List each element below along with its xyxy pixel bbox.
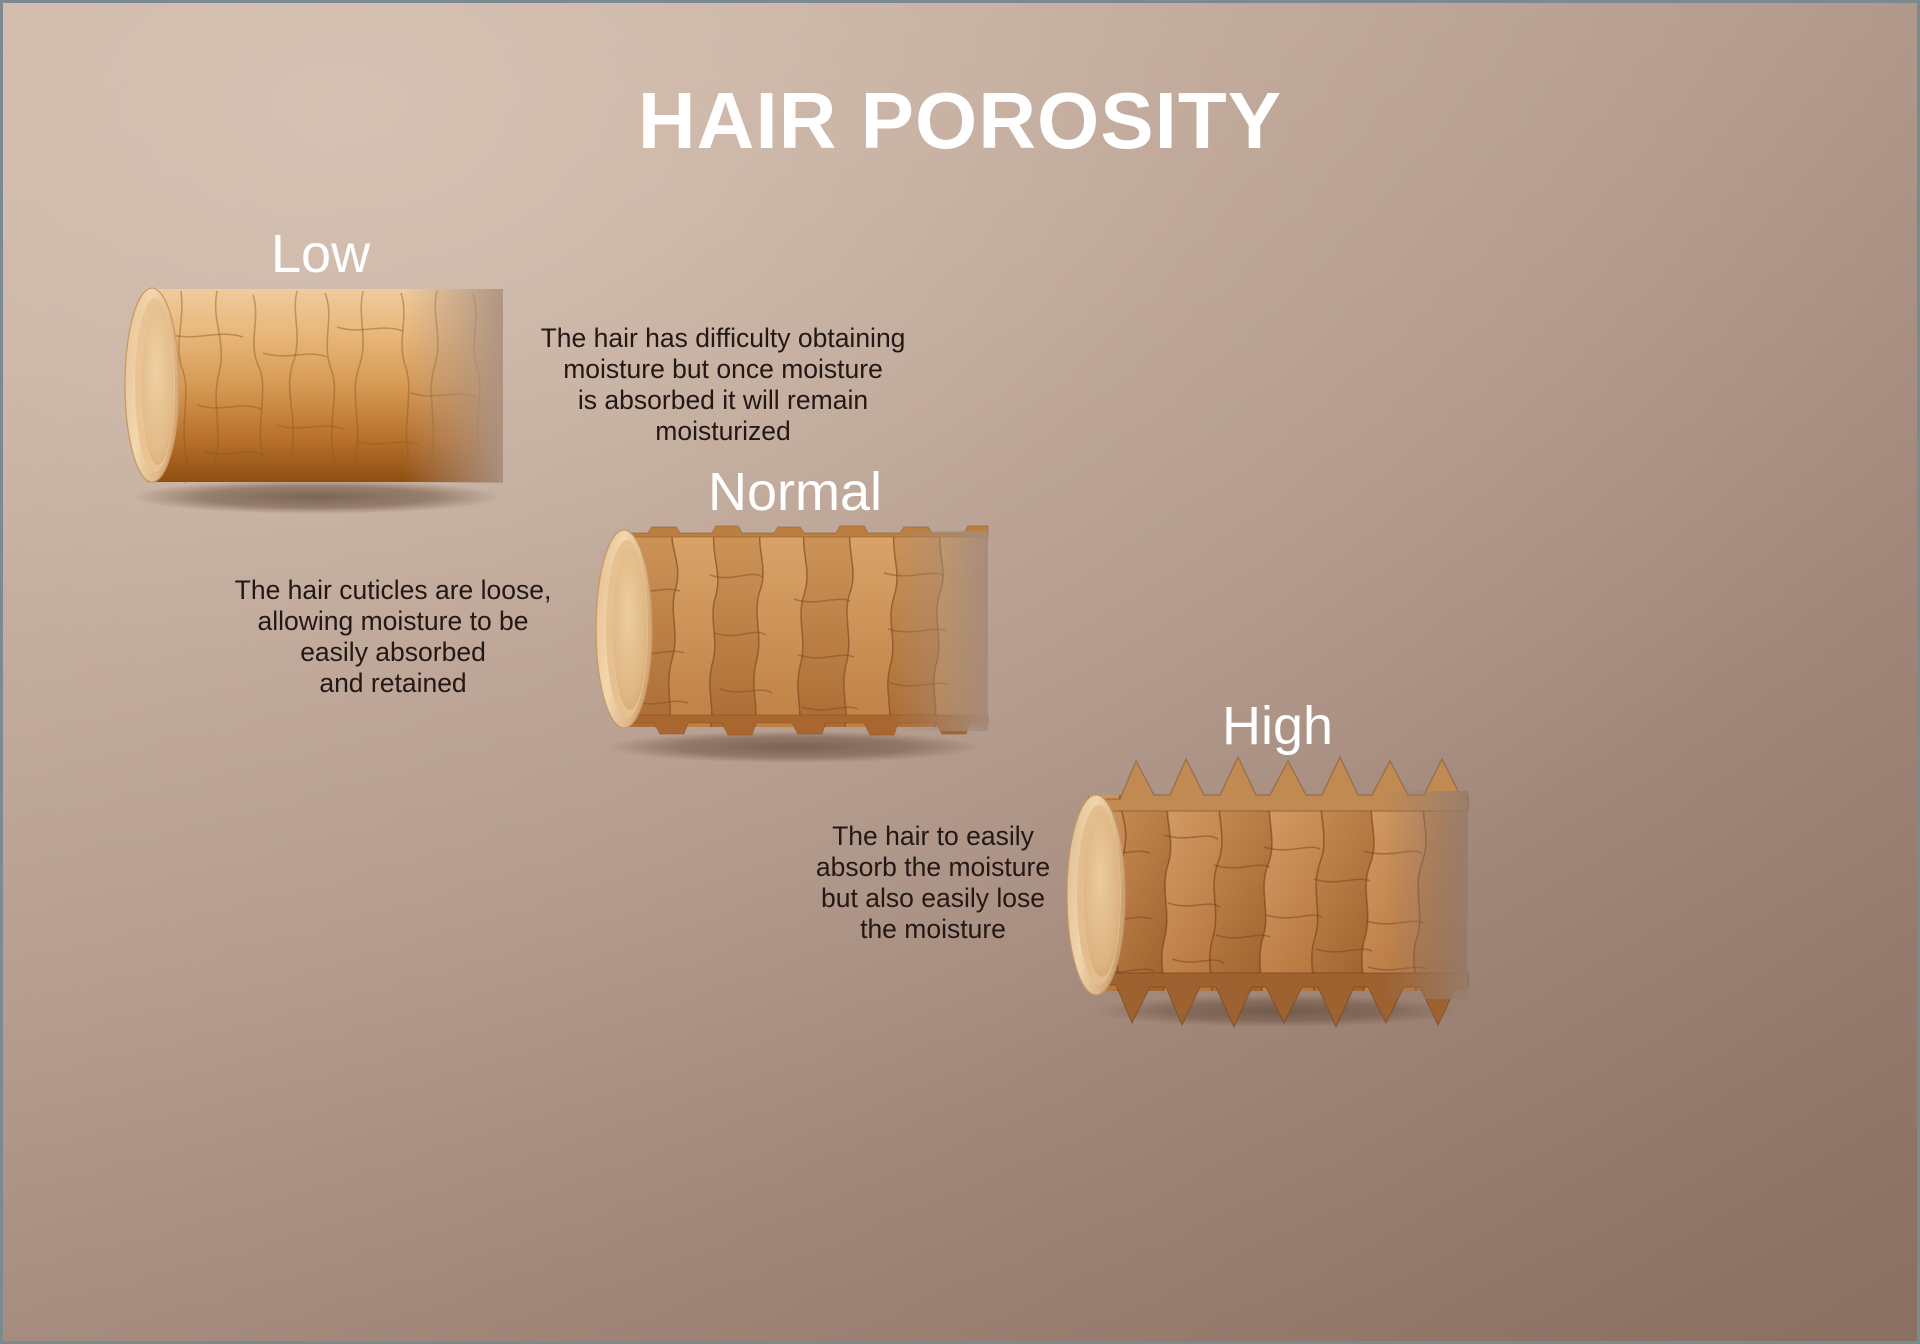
hair-strand-high-porosity xyxy=(1058,755,1488,1040)
level-label-normal: Normal xyxy=(708,465,882,519)
strand-shadow-low xyxy=(131,480,501,514)
level-description-high: The hair to easily absorb the moisture b… xyxy=(803,821,1063,945)
level-description-normal: The hair cuticles are loose, allowing mo… xyxy=(223,575,563,699)
infographic-canvas: HAIR POROSITY xyxy=(0,0,1920,1344)
strand-shadow-normal xyxy=(605,731,981,763)
level-description-low: The hair has difficulty obtaining moistu… xyxy=(533,323,913,447)
cortex-opening-low xyxy=(142,305,174,465)
cortex-opening-high xyxy=(1084,813,1120,977)
level-label-high: High xyxy=(1222,699,1333,753)
page-title: HAIR POROSITY xyxy=(3,81,1917,161)
hair-strand-normal-porosity xyxy=(588,515,1008,780)
cortex-opening-normal xyxy=(613,548,647,710)
level-label-low: Low xyxy=(271,227,370,281)
hair-strand-low-porosity xyxy=(111,275,531,535)
